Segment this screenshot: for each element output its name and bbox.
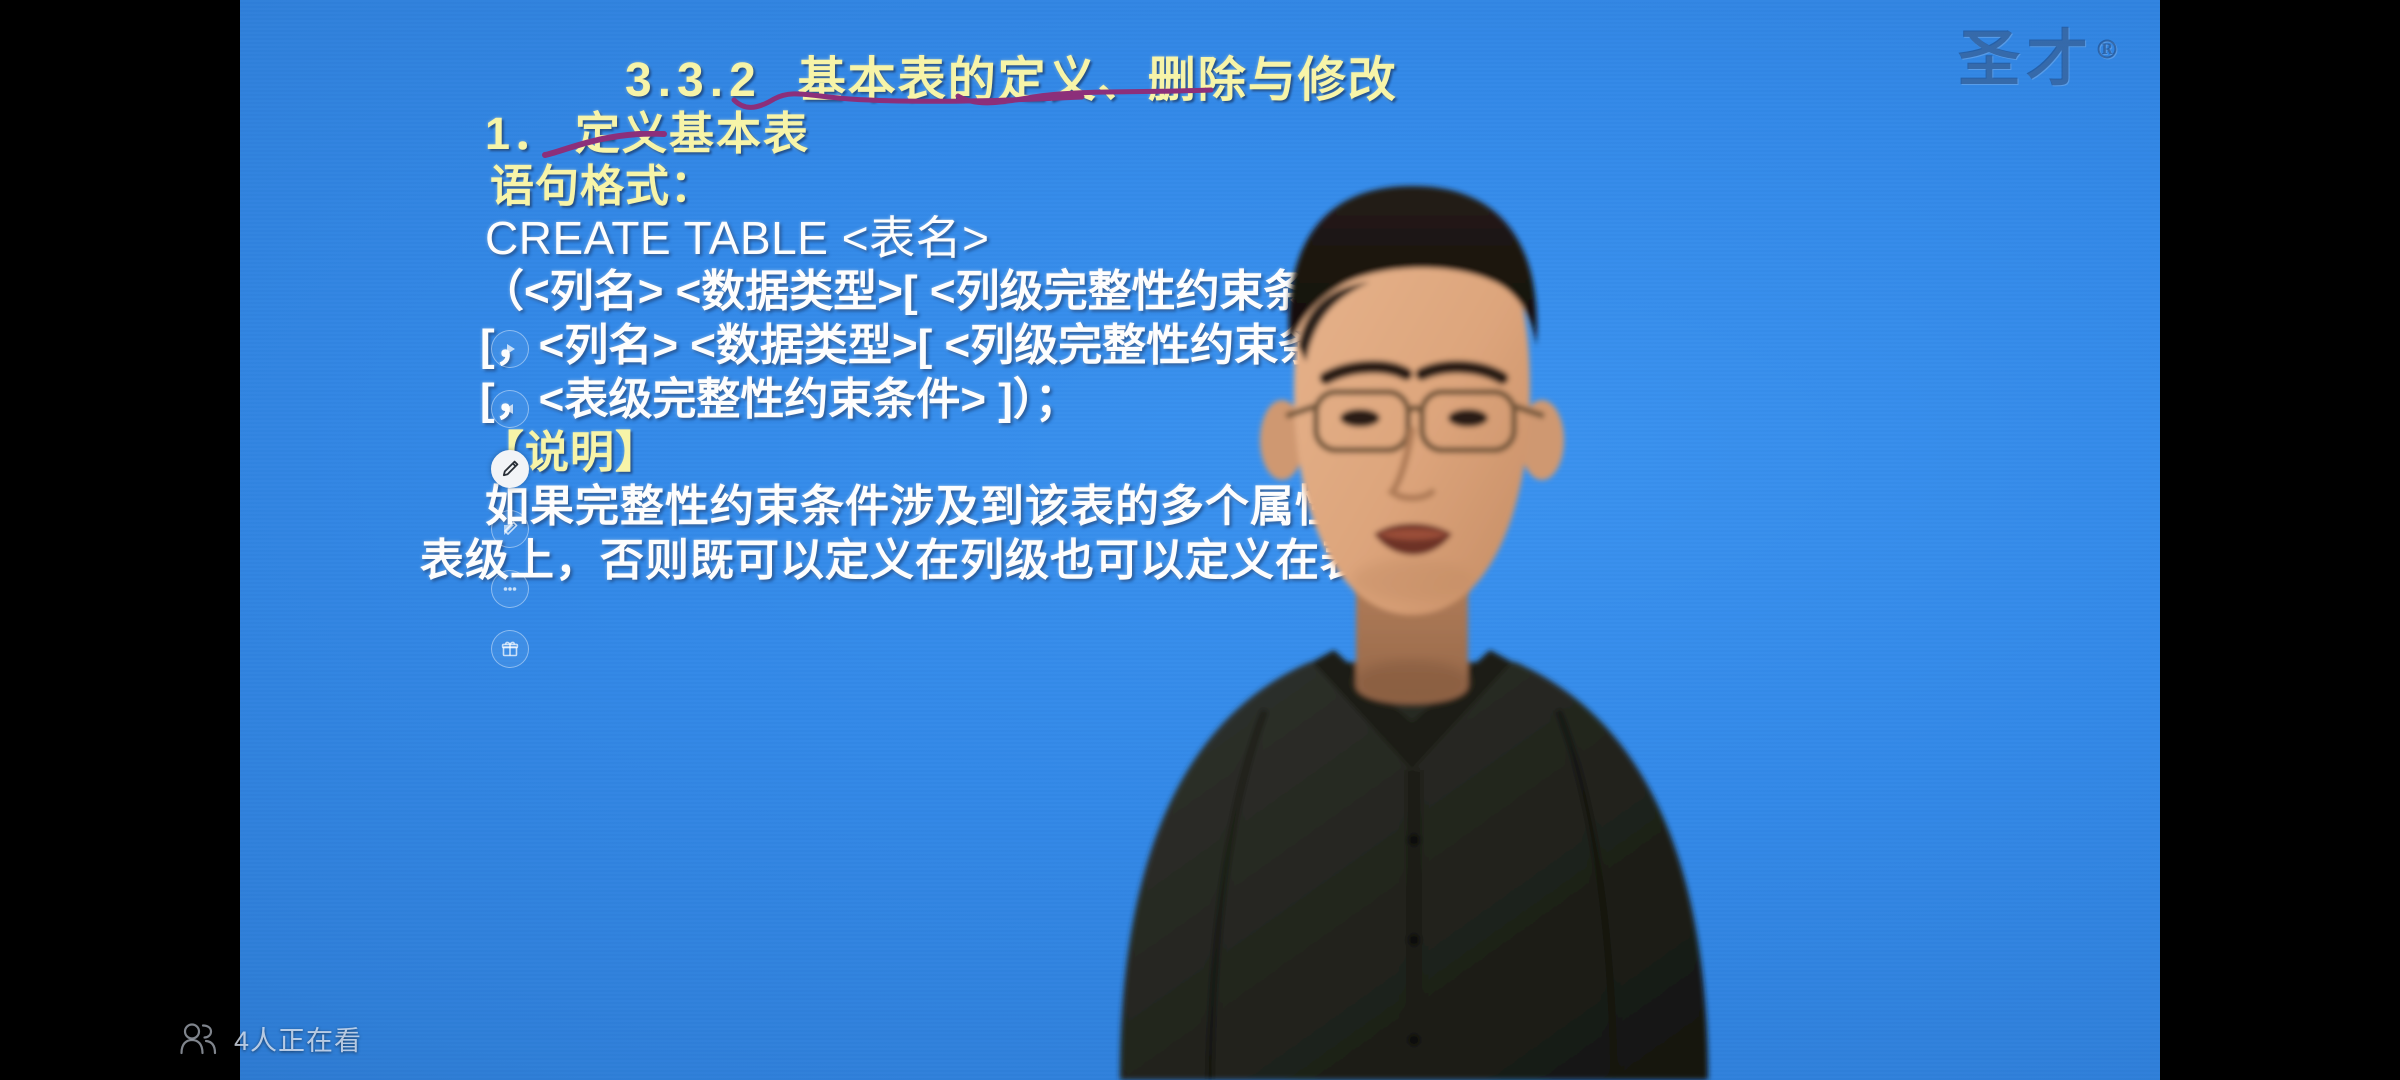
gift-icon[interactable] <box>491 630 529 668</box>
annotation-toolbar[interactable] <box>480 330 540 668</box>
slide-title-text: 基本表的定义、删除与修改 <box>798 54 1398 107</box>
highlighter-icon[interactable] <box>491 510 529 548</box>
viewer-count-label: 4人正在看 <box>234 1019 362 1058</box>
presenter-figure <box>1060 110 1760 1080</box>
video-stage[interactable]: 圣才® 3.3.2基本表的定义、删除与修改 1．定义基本表 语句格式： CREA… <box>240 0 2160 1080</box>
ellipsis-icon[interactable] <box>491 570 529 608</box>
video-player: 圣才® 3.3.2基本表的定义、删除与修改 1．定义基本表 语句格式： CREA… <box>0 0 2400 1080</box>
viewer-count: 4人正在看 <box>178 1019 362 1058</box>
letterbox-right <box>2160 0 2400 1080</box>
pen-icon[interactable] <box>491 450 529 488</box>
people-icon <box>178 1022 218 1056</box>
play-icon[interactable] <box>491 330 529 368</box>
registered-mark: ® <box>2094 35 2120 65</box>
brand-watermark: 圣才® <box>1958 8 2120 98</box>
rewind-icon[interactable] <box>491 390 529 428</box>
letterbox-left <box>0 0 240 1080</box>
watermark-text: 圣才 <box>1958 22 2094 95</box>
